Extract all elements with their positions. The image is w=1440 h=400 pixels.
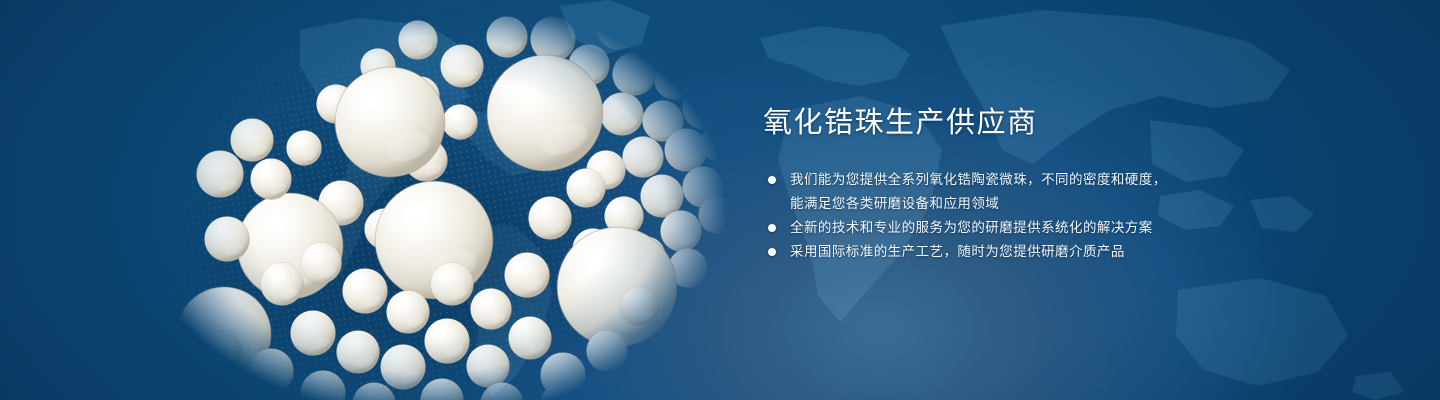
list-item: 我们能为您提供全系列氧化锆陶瓷微珠，不同的密度和硬度， 能满足您各类研磨设备和应…	[763, 168, 1283, 216]
bullet-dot-icon	[768, 248, 776, 256]
list-item: 全新的技术和专业的服务为您的研磨提供系统化的解决方案	[763, 216, 1283, 240]
list-item: 采用国际标准的生产工艺，随时为您提供研磨介质产品	[763, 240, 1283, 264]
hero-banner: 氧化锆珠生产供应商 我们能为您提供全系列氧化锆陶瓷微珠，不同的密度和硬度， 能满…	[0, 0, 1440, 400]
banner-headline: 氧化锆珠生产供应商	[763, 104, 1283, 142]
feature-list: 我们能为您提供全系列氧化锆陶瓷微珠，不同的密度和硬度， 能满足您各类研磨设备和应…	[763, 168, 1283, 264]
bullet-dot-icon	[768, 176, 776, 184]
bullet-dot-icon	[768, 224, 776, 232]
feature-text-line1: 全新的技术和专业的服务为您的研磨提供系统化的解决方案	[790, 220, 1153, 235]
feature-text-line1: 采用国际标准的生产工艺，随时为您提供研磨介质产品	[790, 244, 1125, 259]
banner-content: 氧化锆珠生产供应商 我们能为您提供全系列氧化锆陶瓷微珠，不同的密度和硬度， 能满…	[763, 104, 1283, 264]
zirconia-beads-image	[0, 0, 760, 400]
feature-text-line2: 能满足您各类研磨设备和应用领域	[790, 192, 1283, 216]
feature-text-line1: 我们能为您提供全系列氧化锆陶瓷微珠，不同的密度和硬度，	[790, 172, 1167, 187]
